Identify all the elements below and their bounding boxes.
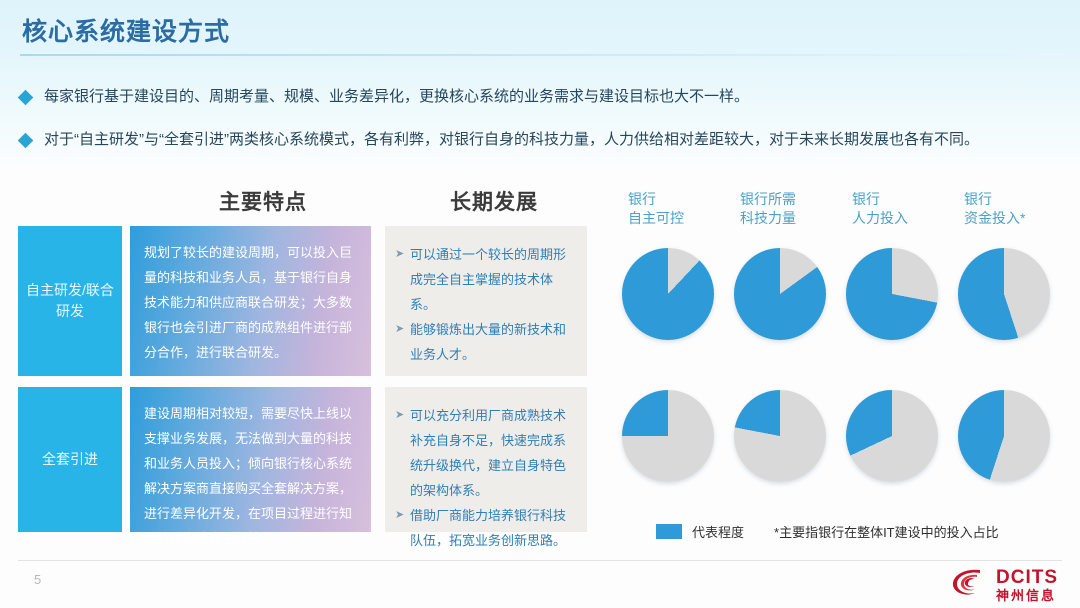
list-item: ➤ 能够锻炼出大量的新技术和业务人才。 [395,317,575,367]
list-item-text: 能够锻炼出大量的新技术和业务人才。 [410,317,575,367]
legend-label: 代表程度 [692,522,744,541]
footer-divider [18,560,1062,561]
pie-chart-r1-c2 [846,390,938,482]
pie-header-line-2: 资金投入* [964,209,1076,228]
bullet-text-1: 每家银行基于建设目的、周期考量、规模、业务差异化，更换核心系统的业务需求与建设目… [44,87,749,107]
pie-column-header-1: 银行所需 科技力量 [740,190,852,228]
pie-header-line-2: 科技力量 [740,209,852,228]
list-item-text: 可以通过一个较长的周期形成完全自主掌握的技术体系。 [410,242,575,317]
column-header-long-term: 长期发展 [450,186,538,216]
pie-slot [734,248,846,340]
bullet-text-2: 对于“自主研发”与“全套引进”两类核心系统模式，各有利弊，对银行自身的科技力量，… [44,130,979,150]
company-logo: DCITS 神州信息 [950,566,1058,603]
arrow-bullet-icon: ➤ [395,403,410,428]
pie-header-line-1: 银行所需 [740,190,852,209]
row-label-full-purchase: 全套引进 [18,387,122,532]
arrow-bullet-icon: ➤ [395,503,410,528]
legend-swatch-icon [656,524,682,539]
logo-text-en: DCITS [996,568,1058,587]
page-number: 5 [34,572,41,587]
pie-slot [846,248,958,340]
pie-slot [846,390,958,482]
pie-row-full-purchase [622,390,1070,482]
pie-header-line-2: 人力投入 [852,209,964,228]
list-item: ➤ 借助厂商能力培养银行科技队伍，拓宽业务创新思路。 [395,503,575,553]
legend-footnote: *主要指银行在整体IT建设中的投入占比 [774,522,999,541]
row-label-self-developed: 自主研发/联合研发 [18,226,122,376]
pie-header-line-1: 银行 [964,190,1076,209]
pie-header-line-2: 自主可控 [628,209,740,228]
pie-chart-r1-c3 [958,390,1050,482]
slide-root: 核心系统建设方式 每家银行基于建设目的、周期考量、规模、业务差异化，更换核心系统… [0,0,1080,608]
long-term-cell-full-purchase: ➤ 可以充分利用厂商成熟技术补充自身不足，快速完成系统升级换代，建立自身特色的架… [385,387,587,532]
feature-cell-self-developed: 规划了较长的建设周期，可以投入巨量的科技和业务人员，基于银行自身技术能力和供应商… [130,226,371,376]
arrow-bullet-icon: ➤ [395,317,410,342]
page-title: 核心系统建设方式 [22,12,230,48]
pie-chart-r1-c1 [734,390,826,482]
pie-chart-r0-c3 [958,248,1050,340]
pie-column-header-0: 银行 自主可控 [628,190,740,228]
pie-slot [622,390,734,482]
list-item-text: 可以充分利用厂商成熟技术补充自身不足，快速完成系统升级换代，建立自身特色的架构体… [410,403,575,503]
pie-column-header-3: 银行 资金投入* [964,190,1076,228]
pie-chart-r1-c0 [622,390,714,482]
pie-column-header-2: 银行 人力投入 [852,190,964,228]
pie-chart-r0-c0 [622,248,714,340]
arrow-bullet-icon: ➤ [395,242,410,267]
dcits-swirl-svg [950,566,990,598]
pie-header-line-1: 银行 [852,190,964,209]
pie-column-headers: 银行 自主可控 银行所需 科技力量 银行 人力投入 银行 资金投入* [628,190,1076,228]
list-item-text: 借助厂商能力培养银行科技队伍，拓宽业务创新思路。 [410,503,575,553]
dcits-swirl-icon [950,566,990,603]
diamond-bullet-icon [18,133,34,149]
pie-chart-r0-c1 [734,248,826,340]
diamond-bullet-icon [18,90,34,106]
feature-cell-full-purchase: 建设周期相对较短，需要尽快上线以支撑业务发展，无法做到大量的科技和业务人员投入；… [130,387,371,532]
bullet-item-1: 每家银行基于建设目的、周期考量、规模、业务差异化，更换核心系统的业务需求与建设目… [20,87,749,107]
chart-legend: 代表程度 *主要指银行在整体IT建设中的投入占比 [656,522,999,541]
pie-slot [958,390,1070,482]
pie-slot [958,248,1070,340]
title-divider [20,54,1060,56]
list-item: ➤ 可以通过一个较长的周期形成完全自主掌握的技术体系。 [395,242,575,317]
column-header-main-feature: 主要特点 [219,186,307,216]
bullet-item-2: 对于“自主研发”与“全套引进”两类核心系统模式，各有利弊，对银行自身的科技力量，… [20,130,979,150]
pie-row-self-developed [622,248,1070,340]
logo-text-cn: 神州信息 [996,589,1058,602]
logo-text: DCITS 神州信息 [996,568,1058,602]
pie-header-line-1: 银行 [628,190,740,209]
pie-chart-r0-c2 [846,248,938,340]
pie-slot [734,390,846,482]
list-item: ➤ 可以充分利用厂商成熟技术补充自身不足，快速完成系统升级换代，建立自身特色的架… [395,403,575,503]
pie-slot [622,248,734,340]
long-term-cell-self-developed: ➤ 可以通过一个较长的周期形成完全自主掌握的技术体系。 ➤ 能够锻炼出大量的新技… [385,226,587,376]
